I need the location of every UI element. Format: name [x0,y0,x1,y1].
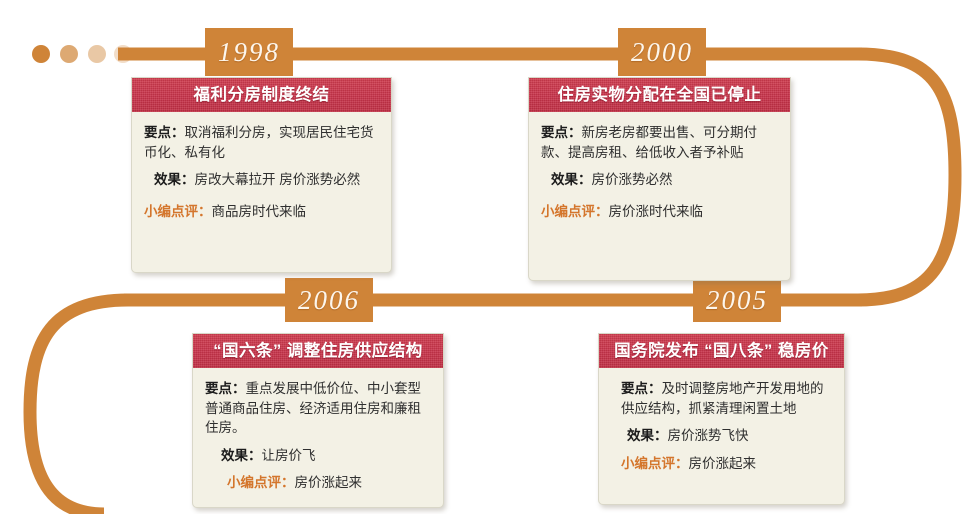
key-points-row: 要点：重点发展中低价位、中小套型普通商品住房、经济适用住房和廉租住房。 [205,379,431,438]
key-points-label: 要点： [144,125,185,140]
effect-row: 效果：房价涨势必然 [541,170,778,190]
key-points-row: 要点：取消福利分房，实现居民住宅货币化、私有化 [144,123,379,162]
editor-note-row: 小编点评：房价涨起来 [611,454,832,474]
effect-text: 房价涨势飞快 [668,428,749,443]
year-marker-2005[interactable]: 2005 [693,278,781,322]
editor-note-text: 房价涨起来 [689,456,757,471]
event-card-body: 要点：新房老房都要出售、可分期付款、提高房租、给低收入者予补贴 效果：房价涨势必… [529,112,790,231]
event-card-2000[interactable]: 住房实物分配在全国已停止 要点：新房老房都要出售、可分期付款、提高房租、给低收入… [528,77,791,281]
timeline-infographic: 1998 2000 2006 2005 福利分房制度终结 要点：取消福利分房，实… [0,0,980,514]
event-card-body: 要点：取消福利分房，实现居民住宅货币化、私有化 效果：房改大幕拉开 房价涨势必然… [132,112,391,231]
year-marker-2000[interactable]: 2000 [618,28,706,76]
year-marker-2006[interactable]: 2006 [285,278,373,322]
track-left-uturn [30,300,128,514]
key-points-label: 要点： [621,381,662,396]
year-label: 1998 [218,39,280,66]
key-points-label: 要点： [541,125,582,140]
effect-text: 让房价飞 [262,448,316,463]
timeline-lead-dot-1 [32,45,50,63]
event-card-title: 国务院发布 “国八条” 稳房价 [599,334,844,368]
event-card-2005[interactable]: 国务院发布 “国八条” 稳房价 要点：及时调整房地产开发用地的供应结构，抓紧清理… [598,333,845,505]
event-card-2006[interactable]: “国六条” 调整住房供应结构 要点：重点发展中低价位、中小套型普通商品住房、经济… [192,333,444,508]
year-label: 2006 [298,287,360,314]
effect-text: 房价涨势必然 [592,172,673,187]
editor-note-text: 房价涨时代来临 [609,204,704,219]
effect-label: 效果： [154,172,195,187]
effect-row: 效果：房改大幕拉开 房价涨势必然 [144,170,379,190]
editor-note-label: 小编点评： [621,456,689,471]
event-card-1998[interactable]: 福利分房制度终结 要点：取消福利分房，实现居民住宅货币化、私有化 效果：房改大幕… [131,77,392,273]
effect-row: 效果：房价涨势飞快 [611,426,832,446]
event-card-title: 福利分房制度终结 [132,78,391,112]
key-points-row: 要点：新房老房都要出售、可分期付款、提高房租、给低收入者予补贴 [541,123,778,162]
editor-note-label: 小编点评： [227,475,295,490]
editor-note-text: 房价涨起来 [295,475,363,490]
year-label: 2000 [631,39,693,66]
effect-label: 效果： [221,448,262,463]
timeline-lead-dot-2 [60,45,78,63]
year-label: 2005 [706,287,768,314]
event-card-body: 要点：重点发展中低价位、中小套型普通商品住房、经济适用住房和廉租住房。 效果：让… [193,368,443,503]
key-points-label: 要点： [205,381,246,396]
key-points-row: 要点：及时调整房地产开发用地的供应结构，抓紧清理闲置土地 [611,379,832,418]
editor-note-label: 小编点评： [541,204,609,219]
effect-text: 房改大幕拉开 房价涨势必然 [195,172,361,187]
editor-note-text: 商品房时代来临 [212,204,307,219]
event-card-body: 要点：及时调整房地产开发用地的供应结构，抓紧清理闲置土地 效果：房价涨势飞快 小… [599,368,844,483]
event-card-title: 住房实物分配在全国已停止 [529,78,790,112]
editor-note-row: 小编点评：房价涨时代来临 [541,202,778,222]
event-card-title: “国六条” 调整住房供应结构 [193,334,443,368]
effect-label: 效果： [627,428,668,443]
year-marker-1998[interactable]: 1998 [205,28,293,76]
timeline-lead-dot-4 [114,45,132,63]
track-right-uturn [858,54,955,300]
editor-note-row: 小编点评：商品房时代来临 [144,202,379,222]
effect-label: 效果： [551,172,592,187]
editor-note-label: 小编点评： [144,204,212,219]
editor-note-row: 小编点评：房价涨起来 [205,473,431,493]
timeline-lead-dot-3 [88,45,106,63]
effect-row: 效果：让房价飞 [205,446,431,466]
